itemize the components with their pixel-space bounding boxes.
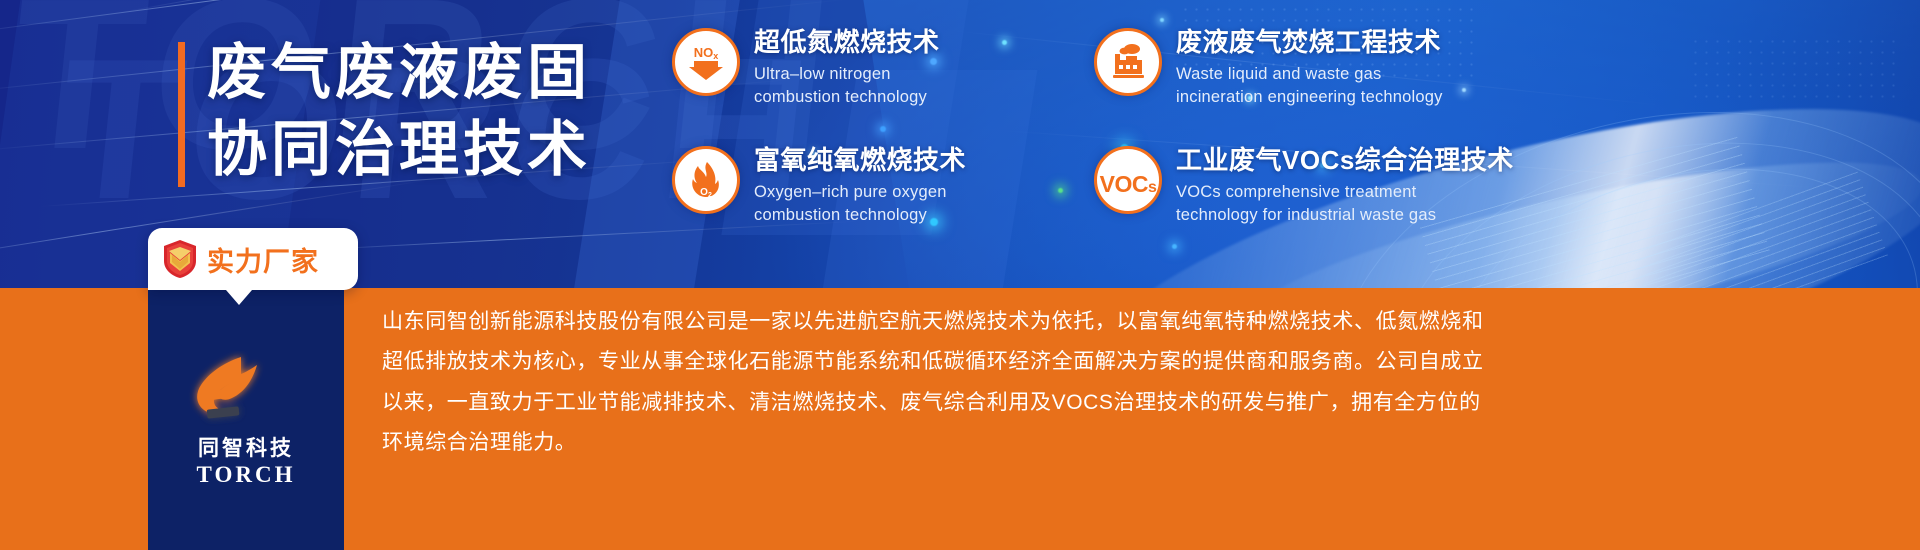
badge-pointer xyxy=(226,290,252,305)
feature-item-oxygen[interactable]: O2 富氧纯氧燃烧技术 Oxygen–rich pure oxygen comb… xyxy=(672,144,1072,248)
feature-title-en-1: Waste liquid and waste gas xyxy=(1176,63,1443,86)
badge-label: 实力厂家 xyxy=(207,240,319,279)
shield-award-icon xyxy=(162,239,198,279)
torch-flame-logo xyxy=(171,351,321,434)
feature-title-en-1: Ultra–low nitrogen xyxy=(754,63,940,86)
description-line-1: 山东同智创新能源科技股份有限公司是一家以先进航空航天燃烧技术为依托，以富氧纯氧特… xyxy=(382,302,1492,342)
svg-text:NOx: NOx xyxy=(694,45,719,61)
factory-smokestack-icon xyxy=(1094,28,1162,96)
feature-title-cn: 废液废气焚烧工程技术 xyxy=(1176,28,1443,58)
feature-title-en-2: technology for industrial waste gas xyxy=(1176,204,1514,227)
company-description: 山东同智创新能源科技股份有限公司是一家以先进航空航天燃烧技术为依托，以富氧纯氧特… xyxy=(382,302,1492,463)
feature-title-en-2: combustion technology xyxy=(754,86,940,109)
banner-title: 废气废液废固 协同治理技术 xyxy=(178,36,591,187)
feature-title-en-1: Oxygen–rich pure oxygen xyxy=(754,181,966,204)
feature-title-en-1: VOCs comprehensive treatment xyxy=(1176,181,1514,204)
particle xyxy=(1160,18,1164,22)
svg-text:VOCs: VOCs xyxy=(1100,171,1157,197)
manufacturer-badge[interactable]: 实力厂家 xyxy=(148,228,358,290)
promo-banner: TORCH TORCH 废气废液废固 协同治 xyxy=(0,0,1920,550)
feature-title-cn: 富氧纯氧燃烧技术 xyxy=(754,146,966,176)
feature-item-incineration[interactable]: 废液废气焚烧工程技术 Waste liquid and waste gas in… xyxy=(1094,26,1902,130)
feature-title-en-2: incineration engineering technology xyxy=(1176,86,1443,109)
title-line-2: 协同治理技术 xyxy=(207,113,591,186)
feature-item-vocs[interactable]: VOCs 工业废气VOCs综合治理技术 VOCs comprehensive t… xyxy=(1094,144,1902,248)
description-line-3: 以来，一直致力于工业节能减排技术、清洁燃烧技术、废气综合利用及VOCS治理技术的… xyxy=(382,383,1492,423)
flame-oxygen-icon: O2 xyxy=(672,146,740,214)
feature-list: NOx 超低氮燃烧技术 Ultra–low nitrogen combustio… xyxy=(672,26,1902,248)
nox-arrow-icon: NOx xyxy=(672,28,740,96)
description-line-4: 环境综合治理能力。 xyxy=(382,423,1492,463)
logo-panel: 同智科技 TORCH xyxy=(148,288,344,550)
description-line-2: 超低排放技术为核心，专业从事全球化石能源节能系统和低碳循环经济全面解决方案的提供… xyxy=(382,342,1492,382)
feature-title-cn: 工业废气VOCs综合治理技术 xyxy=(1176,146,1514,176)
title-accent-bar xyxy=(178,42,185,187)
title-line-1: 废气废液废固 xyxy=(207,36,591,109)
logo-text-cn: 同智科技 xyxy=(198,432,294,462)
feature-title-cn: 超低氮燃烧技术 xyxy=(754,28,940,58)
vocs-icon: VOCs xyxy=(1094,146,1162,214)
logo-text-en: TORCH xyxy=(197,462,296,488)
feature-title-en-2: combustion technology xyxy=(754,204,966,227)
feature-item-nox[interactable]: NOx 超低氮燃烧技术 Ultra–low nitrogen combustio… xyxy=(672,26,1072,130)
